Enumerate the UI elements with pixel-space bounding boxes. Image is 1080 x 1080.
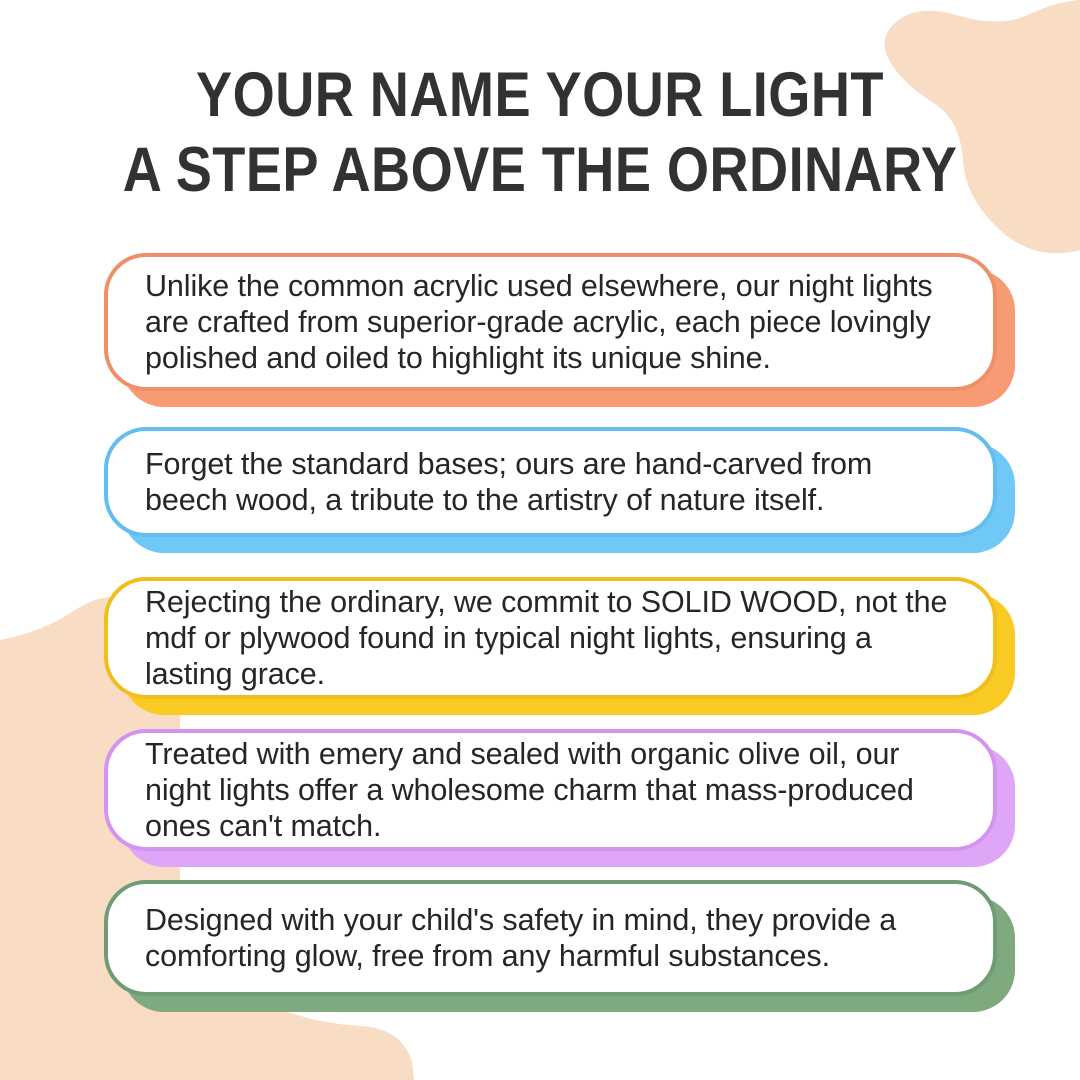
feature-card-blue[interactable]: Forget the standard bases; ours are hand…: [104, 427, 997, 537]
feature-card-orange[interactable]: Unlike the common acrylic used elsewhere…: [104, 253, 997, 391]
feature-card-yellow[interactable]: Rejecting the ordinary, we commit to SOL…: [104, 577, 997, 699]
feature-card-purple[interactable]: Treated with emery and sealed with organ…: [104, 729, 997, 851]
card-body: Rejecting the ordinary, we commit to SOL…: [104, 577, 997, 699]
card-body: Forget the standard bases; ours are hand…: [104, 427, 997, 537]
page-title-line-1: YOUR NAME YOUR LIGHT: [76, 62, 1005, 128]
card-body: Treated with emery and sealed with organ…: [104, 729, 997, 851]
card-text: Rejecting the ordinary, we commit to SOL…: [108, 584, 993, 692]
feature-card-green[interactable]: Designed with your child's safety in min…: [104, 880, 997, 996]
poster-canvas: YOUR NAME YOUR LIGHT A STEP ABOVE THE OR…: [0, 0, 1080, 1080]
page-title-line-2: A STEP ABOVE THE ORDINARY: [76, 137, 1005, 203]
card-text: Treated with emery and sealed with organ…: [108, 736, 993, 844]
card-text: Forget the standard bases; ours are hand…: [108, 446, 993, 518]
page-title: YOUR NAME YOUR LIGHT A STEP ABOVE THE OR…: [0, 62, 1080, 203]
card-body: Unlike the common acrylic used elsewhere…: [104, 253, 997, 391]
card-body: Designed with your child's safety in min…: [104, 880, 997, 996]
card-text: Unlike the common acrylic used elsewhere…: [108, 268, 993, 376]
card-text: Designed with your child's safety in min…: [108, 902, 993, 974]
